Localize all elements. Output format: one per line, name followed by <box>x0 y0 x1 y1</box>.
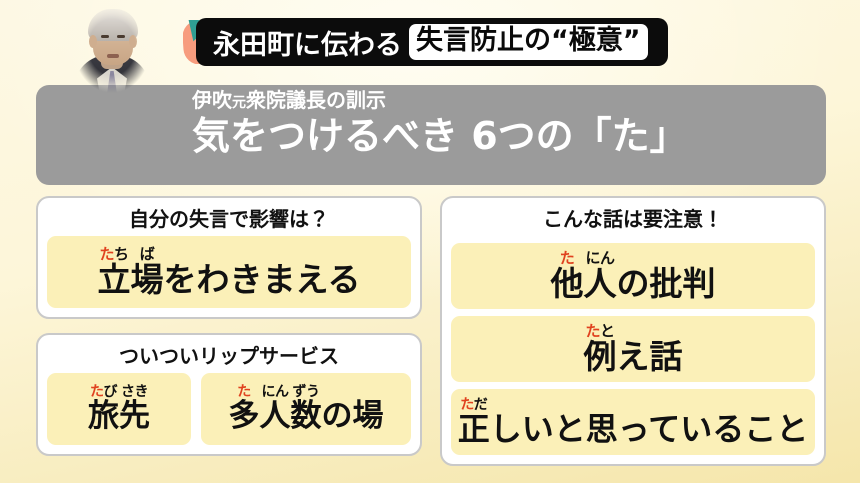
ruby-base: 先 <box>119 400 150 433</box>
ruby-base: 人 <box>584 267 617 302</box>
ruby-group: 立たち <box>97 247 130 298</box>
chip-tail-text: え話 <box>617 340 683 375</box>
banner-main-title: 気をつけるべき 6つの「た」 <box>192 114 812 159</box>
card-title: 自分の失言で影響は？ <box>47 205 411 236</box>
ruby-group: 人にん <box>260 385 291 433</box>
card-title: ついついリップサービス <box>47 342 411 373</box>
ruby-base: 正 <box>458 413 490 447</box>
ruby-base: 場 <box>130 263 163 298</box>
banner-subtitle-mini: 元 <box>232 95 246 111</box>
ruby-group: 例たと <box>584 324 617 375</box>
chip-text: 旅たび先さき <box>88 385 150 433</box>
card-title: こんな話は要注意！ <box>451 205 815 236</box>
ruby-group: 旅たび <box>88 385 119 433</box>
ruby-group: 場ば <box>130 247 163 298</box>
chip-tail-text: の批判 <box>617 267 716 302</box>
ruby-reading-red: た <box>237 385 251 399</box>
card-lip-service: ついついリップサービス 旅たび先さき 多た人にん数ずうの場 <box>36 333 422 456</box>
ruby-base: 旅 <box>88 400 119 433</box>
ruby-reading-black: さき <box>121 385 148 399</box>
banner-subtitle-tail: 衆院議長の訓示 <box>246 88 386 112</box>
ruby-reading: たび <box>90 385 117 399</box>
card-risky-topics: こんな話は要注意！ 他た人にんの批判 例たとえ話 正ただしいと思っていること <box>440 196 826 466</box>
chip-taninzu: 多た人にん数ずうの場 <box>201 373 411 445</box>
title-bar-text: 永田町に伝わる 失言防止の“極意” <box>213 18 648 66</box>
graphic-stage: 永田町に伝わる 失言防止の“極意” 伊吹元衆院議長の訓示 気をつけるべき 6つの… <box>0 0 860 483</box>
chip-tadashii: 正ただしいと思っていること <box>451 389 815 455</box>
chip-text: 立たち場ばをわきまえる <box>97 247 360 298</box>
chip-tail-text: の場 <box>322 400 384 433</box>
chip-text: 正ただしいと思っていること <box>458 398 808 447</box>
portrait-eye-right <box>117 35 125 38</box>
portrait-mouth <box>107 54 119 58</box>
chip-tail-text: しいと思っていること <box>490 413 808 447</box>
title-plain-text: 永田町に伝わる <box>213 23 402 62</box>
ruby-group: 人にん <box>584 251 617 302</box>
left-column: 自分の失言で影響は？ 立たち場ばをわきまえる ついついリップサービス 旅たび先さ… <box>36 196 422 466</box>
chip-tail-text: をわきまえる <box>163 263 360 298</box>
chip-tachiba: 立たち場ばをわきまえる <box>47 236 411 308</box>
banner-text-block: 伊吹元衆院議長の訓示 気をつけるべき 6つの「た」 <box>192 88 812 159</box>
ruby-base: 多 <box>229 400 260 433</box>
ruby-group: 多た <box>229 385 260 433</box>
chip-text: 多た人にん数ずうの場 <box>229 385 384 433</box>
portrait-photo <box>66 0 158 101</box>
ruby-reading-black: にん <box>262 385 289 399</box>
chip-tabisaki: 旅たび先さき <box>47 373 191 445</box>
card-self-impact: 自分の失言で影響は？ 立たち場ばをわきまえる <box>36 196 422 319</box>
chip-tatoebanashi: 例たとえ話 <box>451 316 815 382</box>
ruby-base: 他 <box>551 267 584 302</box>
cards-area: 自分の失言で影響は？ 立たち場ばをわきまえる ついついリップサービス 旅たび先さ… <box>36 196 826 466</box>
ruby-reading-black: ずう <box>293 385 320 399</box>
title-highlight-text: 失言防止の“極意” <box>409 24 648 59</box>
chip-row: 旅たび先さき 多た人にん数ずうの場 <box>47 373 411 445</box>
banner-subtitle: 伊吹元衆院議長の訓示 <box>192 88 812 113</box>
chip-text: 例たとえ話 <box>584 324 683 375</box>
right-column: こんな話は要注意！ 他た人にんの批判 例たとえ話 正ただしいと思っていること <box>440 196 826 466</box>
ruby-base: 人 <box>260 400 291 433</box>
portrait-mask <box>66 0 158 101</box>
portrait-eye-left <box>101 35 109 38</box>
portrait-ear-right <box>129 35 137 48</box>
chip-taninhihan: 他た人にんの批判 <box>451 243 815 309</box>
ruby-group: 先さき <box>119 385 150 433</box>
chip-text: 他た人にんの批判 <box>551 251 716 302</box>
banner-subtitle-lead: 伊吹 <box>192 88 232 112</box>
title-bar: 永田町に伝わる 失言防止の“極意” <box>183 18 668 66</box>
ruby-base: 立 <box>97 263 130 298</box>
ruby-group: 他た <box>551 251 584 302</box>
portrait-ear-left <box>89 35 97 48</box>
ruby-base: 数 <box>291 400 322 433</box>
ruby-group: 正ただ <box>458 398 490 447</box>
ruby-base: 例 <box>584 340 617 375</box>
ruby-group: 数ずう <box>291 385 322 433</box>
